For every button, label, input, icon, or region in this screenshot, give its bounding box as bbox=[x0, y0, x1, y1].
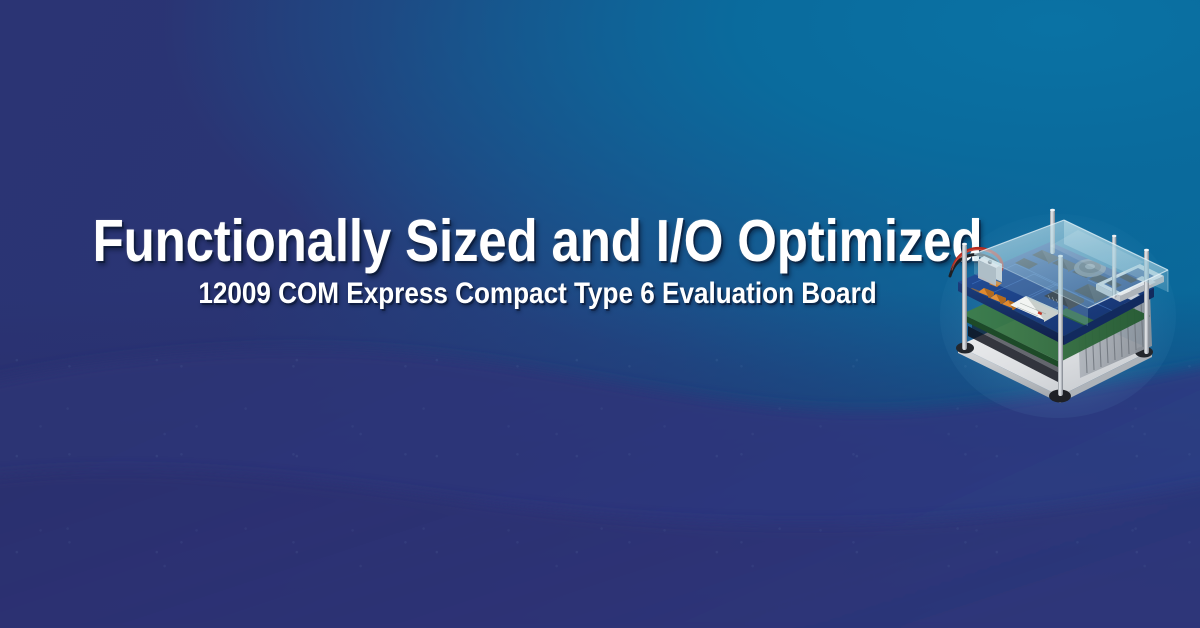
product-image bbox=[938, 196, 1174, 406]
banner-headline: Functionally Sized and I/O Optimized bbox=[73, 212, 1003, 271]
banner-subheadline: 12009 COM Express Compact Type 6 Evaluat… bbox=[70, 278, 1005, 310]
promo-banner: Functionally Sized and I/O Optimized 120… bbox=[0, 0, 1200, 628]
banner-copy: Functionally Sized and I/O Optimized 120… bbox=[0, 212, 1075, 310]
